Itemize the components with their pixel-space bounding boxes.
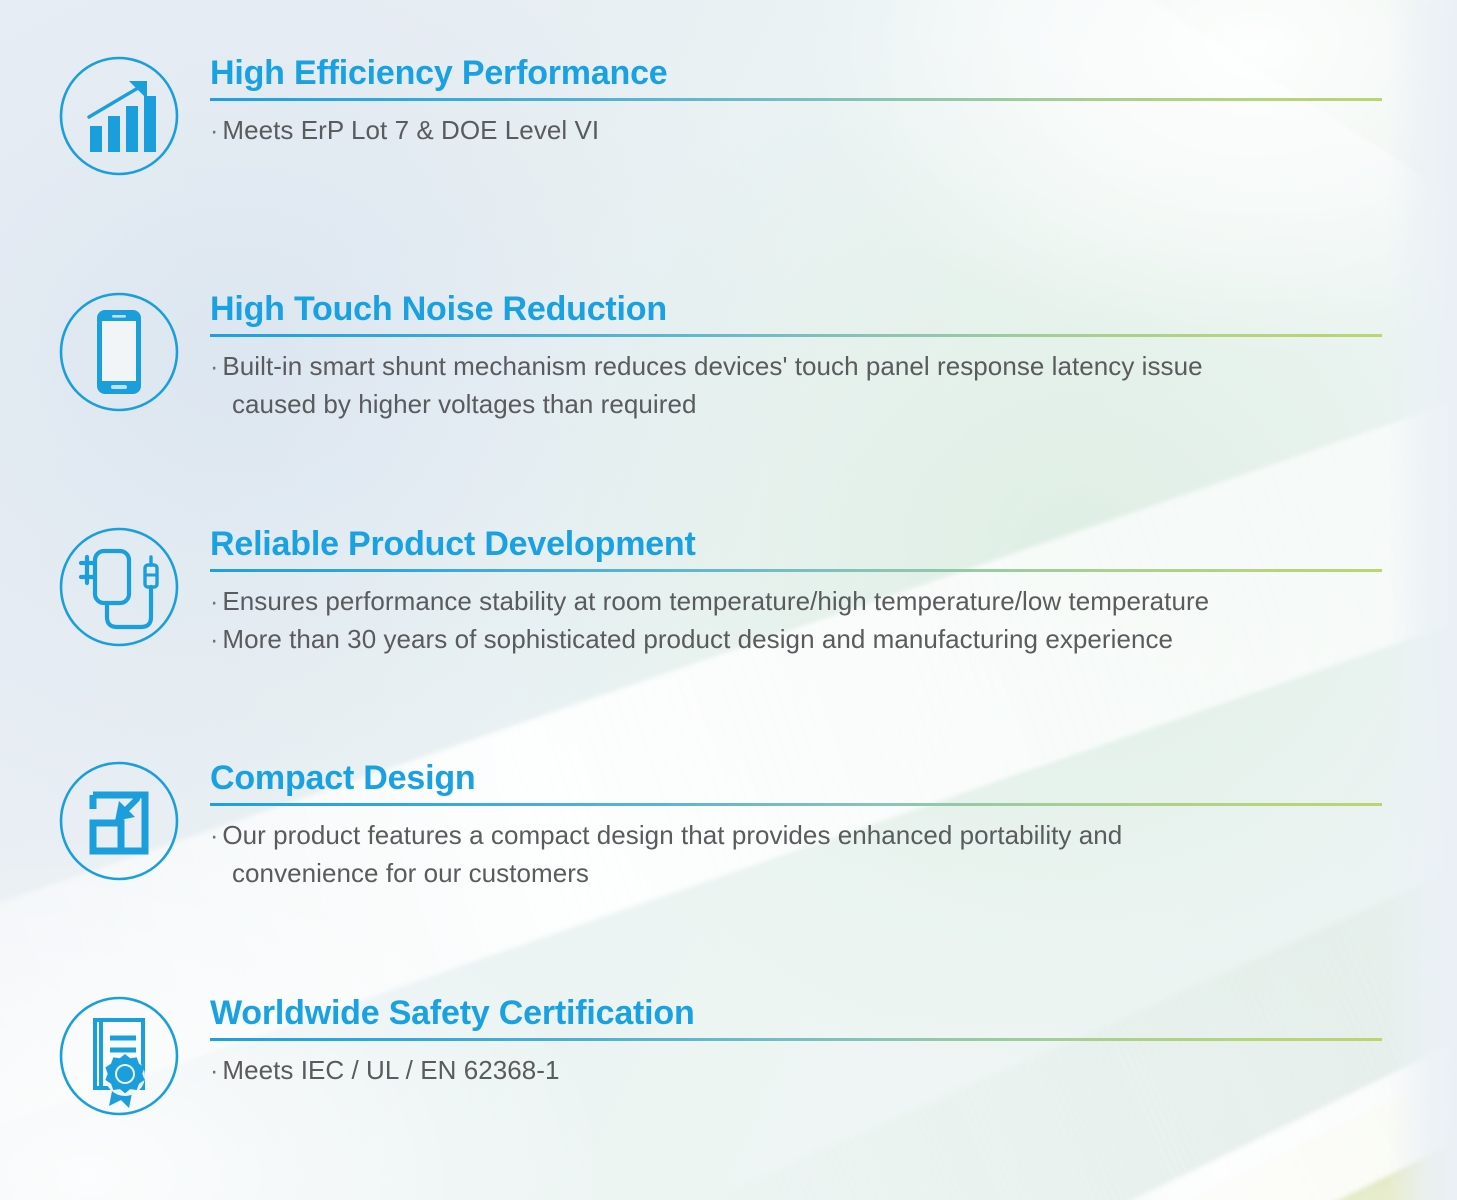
feature-highlights-page: High Efficiency Performance ·Meets ErP L… xyxy=(0,0,1457,1200)
bullet-text: Ensures performance stability at room te… xyxy=(222,586,1209,616)
bullet-dot: · xyxy=(210,626,218,654)
feature-body: Worldwide Safety Certification ·Meets IE… xyxy=(210,994,1385,1090)
feature-bullets: ·Meets ErP Lot 7 & DOE Level VI xyxy=(210,112,1385,150)
bullet-dot: · xyxy=(210,1057,218,1085)
bullet-dot: · xyxy=(210,822,218,850)
feature-title: High Touch Noise Reduction xyxy=(210,290,1385,328)
feature-body: High Touch Noise Reduction ·Built-in sma… xyxy=(210,290,1385,422)
feature-bullets: ·Meets IEC / UL / EN 62368-1 xyxy=(210,1052,1385,1090)
bullet-dot: · xyxy=(210,117,218,145)
feature-bullets: ·Ensures performance stability at room t… xyxy=(210,583,1385,658)
bullet-text: Meets IEC / UL / EN 62368-1 xyxy=(222,1055,559,1085)
smartphone-icon xyxy=(55,288,183,416)
feature-divider xyxy=(210,1038,1382,1041)
feature-divider xyxy=(210,98,1382,101)
feature-divider xyxy=(210,334,1382,337)
feature-divider xyxy=(210,569,1382,572)
bullet-dot: · xyxy=(210,353,218,381)
feature-title: Reliable Product Development xyxy=(210,525,1385,563)
compact-resize-icon xyxy=(55,757,183,885)
bullet-line: ·Meets ErP Lot 7 & DOE Level VI xyxy=(210,112,1385,150)
feature-body: Compact Design ·Our product features a c… xyxy=(210,759,1385,891)
bullet-line: ·Built-in smart shunt mechanism reduces … xyxy=(210,348,1385,386)
bullet-line-continuation: caused by higher voltages than required xyxy=(210,386,1385,423)
feature-bullets: ·Our product features a compact design t… xyxy=(210,817,1385,891)
bullet-line: ·Our product features a compact design t… xyxy=(210,817,1385,855)
bullet-dot: · xyxy=(210,588,218,616)
bar-chart-growth-icon xyxy=(55,52,183,180)
certificate-award-icon xyxy=(55,992,183,1120)
feature-title: Worldwide Safety Certification xyxy=(210,994,1385,1032)
bullet-text: Our product features a compact design th… xyxy=(222,820,1122,850)
bullet-text: More than 30 years of sophisticated prod… xyxy=(222,624,1173,654)
bullet-text: Built-in smart shunt mechanism reduces d… xyxy=(222,351,1202,381)
feature-divider xyxy=(210,803,1382,806)
feature-body: Reliable Product Development ·Ensures pe… xyxy=(210,525,1385,658)
bullet-text: Meets ErP Lot 7 & DOE Level VI xyxy=(222,115,599,145)
power-adapter-icon xyxy=(55,523,183,651)
feature-title: Compact Design xyxy=(210,759,1385,797)
feature-body: High Efficiency Performance ·Meets ErP L… xyxy=(210,54,1385,150)
feature-list: High Efficiency Performance ·Meets ErP L… xyxy=(0,0,1457,1200)
bullet-line: ·Ensures performance stability at room t… xyxy=(210,583,1385,621)
bullet-line: ·Meets IEC / UL / EN 62368-1 xyxy=(210,1052,1385,1090)
bullet-line-continuation: convenience for our customers xyxy=(210,855,1385,892)
bullet-line: ·More than 30 years of sophisticated pro… xyxy=(210,621,1385,659)
feature-title: High Efficiency Performance xyxy=(210,54,1385,92)
feature-bullets: ·Built-in smart shunt mechanism reduces … xyxy=(210,348,1385,422)
